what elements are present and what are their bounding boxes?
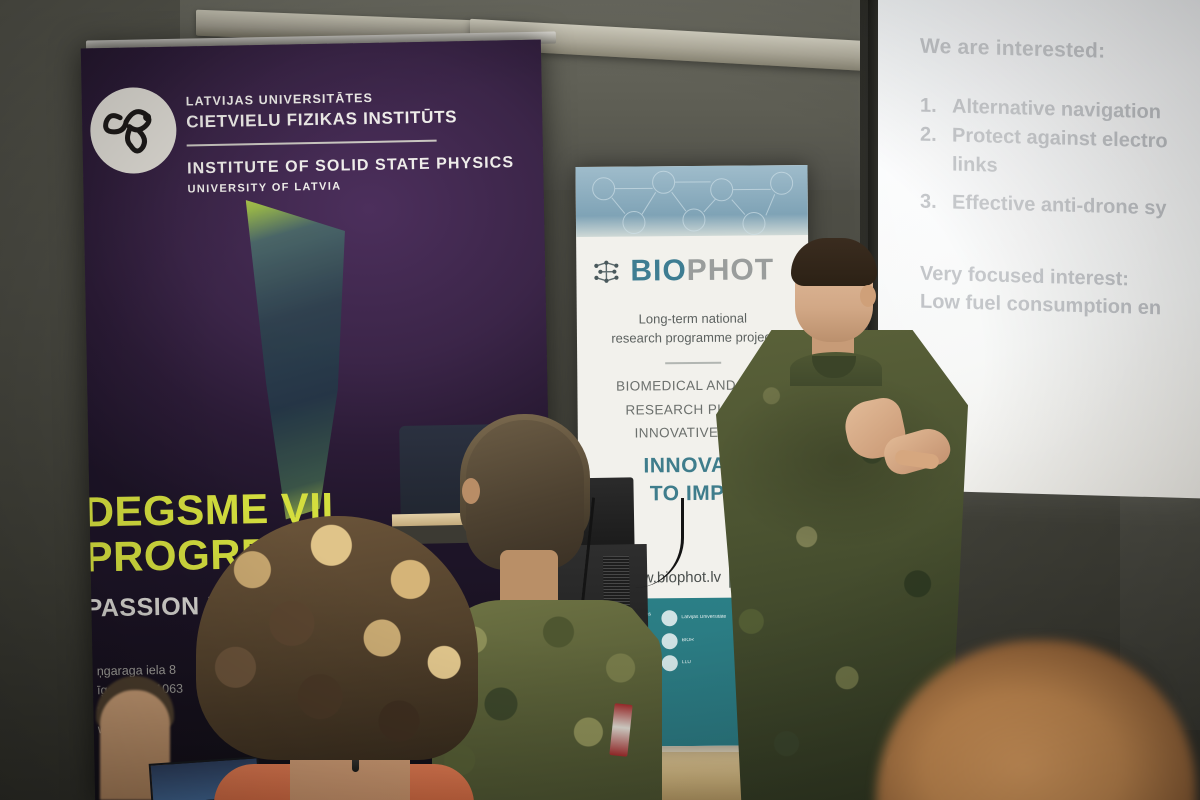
biophot-word-light: PHOT [687,253,775,287]
slide-item-number: 3. [920,188,942,216]
speaker-ear [860,285,876,307]
issp-divider [187,140,437,147]
crystal-highlight [212,191,388,524]
biophot-wordmark: BIOPHOT [630,253,774,288]
attendee-soldier-head [466,420,584,570]
slide-item-number: 2. [920,122,942,150]
conference-room-photo: We are interested: 1. Alternative naviga… [0,0,1200,800]
partner-logo: LLU [662,655,730,672]
biophot-word-bold: BIO [630,254,687,287]
slide-list-item: 3. Effective anti-drone sy [920,188,1200,223]
partner-logo: Latvijas Universitāte [661,610,729,627]
issp-logo-icon [90,87,178,175]
partner-logo: BIOR [662,632,730,650]
speaker-hair [791,238,877,286]
issp-text-block: LATVIJAS UNIVERSITĀTES CIETVIELU FIZIKAS… [186,88,515,195]
slide-item-continuation: links [920,151,1200,186]
biophot-network-pattern [575,165,808,237]
slide-numbered-list: 1. Alternative navigation 2. Protect aga… [920,93,1200,224]
molecule-network-icon [592,257,622,287]
issp-line-1: LATVIJAS UNIVERSITĀTES [186,88,513,108]
slide-item-text: Effective anti-drone sy [952,189,1167,222]
slide-item-text: Protect against electro [952,123,1168,156]
biophot-logo: BIOPHOT [592,253,774,289]
slide-item-text: Alternative navigation [952,93,1161,126]
issp-line-2: CIETVIELU FIZIKAS INSTITŪTS [186,106,513,132]
issp-line-4: UNIVERSITY OF LATVIA [187,177,514,195]
biophot-divider [665,362,721,364]
slide-heading: We are interested: [920,35,1200,67]
issp-line-3: INSTITUTE OF SOLID STATE PHYSICS [187,154,514,178]
slide-item-number: 1. [920,93,942,121]
biophot-subtitle-line-1: Long-term national [577,309,809,330]
attendee-soldier-ear [462,478,480,504]
slide-focus-block: Very focused interest: Low fuel consumpt… [920,259,1200,324]
